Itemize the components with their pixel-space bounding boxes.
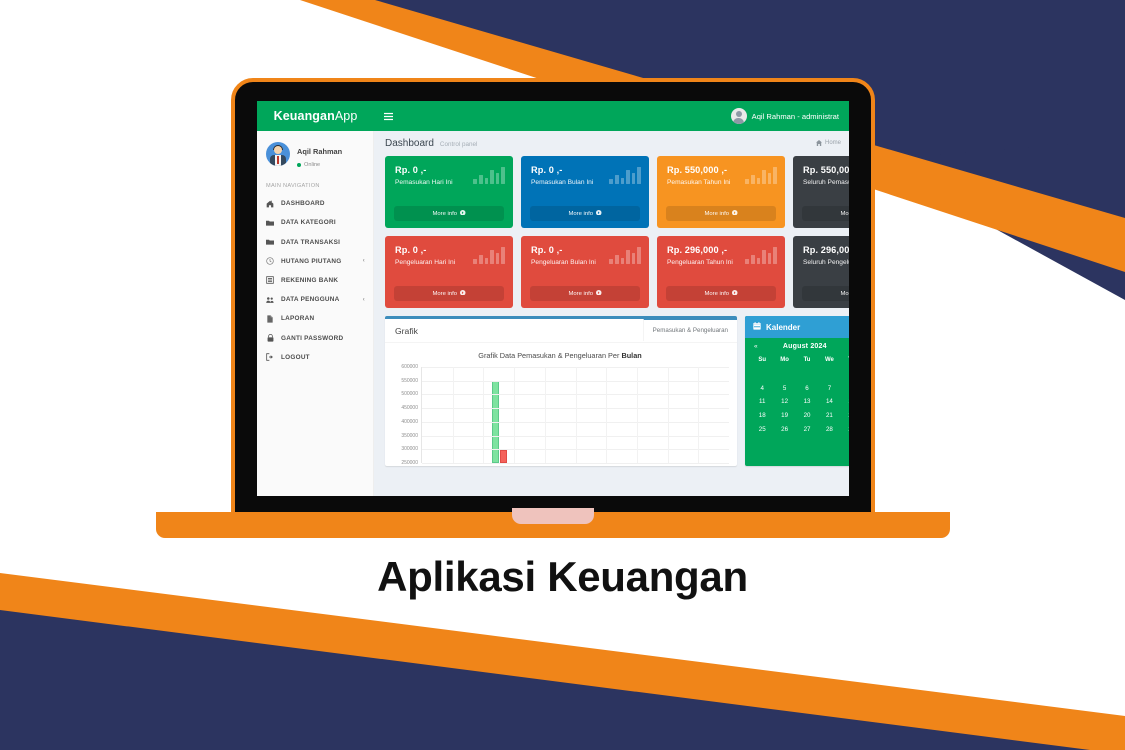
calendar-day[interactable]: 25 — [751, 423, 773, 437]
more-info-button[interactable]: More info — [802, 286, 849, 301]
sidebar-item-label: DASHBOARD — [281, 200, 325, 207]
calendar-day[interactable]: 7 — [818, 381, 840, 395]
avatar — [266, 142, 290, 166]
app-brand[interactable]: KeuanganApp — [257, 101, 374, 131]
sidebar-item-label: REKENING BANK — [281, 277, 338, 284]
sparkline-icon — [609, 244, 641, 264]
calendar-day[interactable] — [751, 367, 773, 381]
arrow-circle-right-icon — [460, 290, 466, 298]
calendar-grid: SuMoTuWeTh145678111213141518192021222526… — [745, 354, 849, 436]
bank-icon — [266, 276, 274, 284]
navbar-user-menu[interactable]: Aqil Rahman - administrat — [725, 108, 845, 124]
navbar-user-name: Aqil Rahman - administrat — [752, 112, 839, 121]
chart-title: Grafik Data Pemasukan & Pengeluaran Per … — [391, 351, 729, 360]
chart-y-tick: 300000 — [401, 446, 418, 452]
content-header: Dashboard Control panel Home — [374, 131, 849, 156]
chart-y-tick: 350000 — [401, 433, 418, 439]
calendar-day[interactable]: 4 — [751, 381, 773, 395]
calendar-month-label: August 2024 — [783, 343, 827, 350]
calendar-day[interactable]: 18 — [751, 409, 773, 423]
calendar-dow: Su — [751, 354, 773, 367]
sidebar-user-status-label: Online — [304, 162, 320, 170]
calendar-day[interactable]: 8 — [841, 381, 849, 395]
sparkline-icon — [609, 164, 641, 184]
sign-out-icon — [266, 353, 274, 361]
sidebar-item-logout[interactable]: LOGOUT — [257, 348, 373, 367]
arrow-circle-right-icon — [596, 210, 602, 218]
calendar-week-row: 2526272829 — [751, 423, 849, 437]
calendar-week-row: 1819202122 — [751, 409, 849, 423]
calendar-day[interactable]: 5 — [773, 381, 795, 395]
chart-y-tick: 600000 — [401, 364, 418, 370]
more-info-label: More info — [432, 291, 457, 297]
sparkline-icon — [745, 164, 777, 184]
chart-gridlines — [421, 367, 729, 463]
calendar-dow: We — [818, 354, 840, 367]
home-icon — [816, 140, 822, 146]
more-info-button[interactable]: More info — [530, 206, 640, 221]
sidebar-user-name: Aqil Rahman — [297, 147, 342, 156]
calendar-day[interactable]: 29 — [841, 423, 849, 437]
sidebar-item-dashboard[interactable]: DASHBOARD — [257, 194, 373, 213]
top-navbar: KeuanganApp Aqil Rahman - administrat — [257, 101, 849, 131]
sidebar-item-laporan[interactable]: LAPORAN — [257, 309, 373, 328]
sidebar-item-ganti-password[interactable]: GANTI PASSWORD — [257, 328, 373, 347]
info-box-value: Rp. 550,000 ,- — [803, 165, 849, 175]
sidebar-item-label: LOGOUT — [281, 354, 310, 361]
chart-y-tick: 250000 — [401, 460, 418, 466]
sidebar-item-label: DATA PENGGUNA — [281, 296, 340, 303]
chart-plot: 6000005500005000004500004000003500003000… — [391, 367, 729, 463]
calendar-day[interactable]: 6 — [796, 381, 818, 395]
page-subtitle: Control panel — [440, 141, 477, 148]
calendar-day[interactable]: 22 — [841, 409, 849, 423]
sidebar-item-data-kategori[interactable]: DATA KATEGORI — [257, 213, 373, 232]
info-box-row-bottom: Rp. 0 ,-Pengeluaran Hari IniMore infoRp.… — [374, 236, 849, 308]
info-box-row-top: Rp. 0 ,-Pemasukan Hari IniMore infoRp. 0… — [374, 156, 849, 228]
sidebar-section-header: MAIN NAVIGATION — [257, 177, 373, 194]
chart-bar-pengeluaran — [500, 450, 507, 463]
file-icon — [266, 315, 274, 323]
panels-row: Grafik Pemasukan & Pengeluaran Grafik Da… — [374, 316, 849, 466]
calendar-day[interactable] — [796, 367, 818, 381]
sidebar-item-label: DATA KATEGORI — [281, 219, 336, 226]
info-box-pengeluaran-bulan-ini[interactable]: Rp. 0 ,-Pengeluaran Bulan IniMore info — [521, 236, 649, 308]
sidebar-item-rekening-bank[interactable]: REKENING BANK — [257, 271, 373, 290]
folder-icon — [266, 238, 274, 246]
sidebar-user-status: Online — [297, 162, 342, 170]
more-info-label: More info — [704, 291, 729, 297]
more-info-button[interactable]: More info — [530, 286, 640, 301]
app-window: KeuanganApp Aqil Rahman - administrat — [257, 101, 849, 496]
sidebar: Aqil Rahman Online MAIN NAVIGATION DASHB… — [257, 131, 374, 496]
lock-icon — [266, 334, 274, 342]
brand-bold: Keuangan — [274, 109, 335, 123]
more-info-label: More info — [704, 211, 729, 217]
info-box-pengeluaran-tahun-ini[interactable]: Rp. 296,000 ,-Pengeluaran Tahun IniMore … — [657, 236, 785, 308]
brand-light: App — [335, 109, 358, 123]
calendar-day[interactable]: 14 — [818, 395, 840, 409]
avatar — [731, 108, 747, 124]
breadcrumb[interactable]: Home — [816, 140, 841, 146]
info-box-pengeluaran-hari-ini[interactable]: Rp. 0 ,-Pengeluaran Hari IniMore info — [385, 236, 513, 308]
page-title: Dashboard — [385, 138, 434, 149]
more-info-label: More info — [432, 211, 457, 217]
sidebar-item-hutang-piutang[interactable]: HUTANG PIUTANG‹ — [257, 252, 373, 271]
more-info-label: More info — [840, 291, 849, 297]
laptop-notch — [512, 508, 594, 524]
laptop-mockup: KeuanganApp Aqil Rahman - administrat — [231, 78, 875, 518]
chart-title-prefix: Grafik Data Pemasukan & Pengeluaran Per — [478, 351, 621, 360]
sparkline-icon — [473, 244, 505, 264]
sidebar-item-label: DATA TRANSAKSI — [281, 239, 340, 246]
more-info-button[interactable]: More info — [802, 206, 849, 221]
calendar-header: Kalender — [745, 316, 849, 338]
calendar-title: Kalender — [766, 323, 800, 332]
calendar-day[interactable] — [818, 367, 840, 381]
info-box-seluruh-pengeluaran[interactable]: Rp. 296,000 ,-Seluruh PengeluaranMore in… — [793, 236, 849, 308]
info-box-pemasukan-tahun-ini[interactable]: Rp. 550,000 ,-Pemasukan Tahun IniMore in… — [657, 156, 785, 228]
clock-icon — [266, 257, 274, 265]
chart-y-tick: 400000 — [401, 419, 418, 425]
chart-panel: Grafik Pemasukan & Pengeluaran Grafik Da… — [385, 316, 737, 466]
arrow-circle-right-icon — [596, 290, 602, 298]
sidebar-item-label: LAPORAN — [281, 315, 314, 322]
chart-y-tick: 500000 — [401, 391, 418, 397]
info-box-value: Rp. 296,000 ,- — [803, 245, 849, 255]
more-info-button[interactable]: More info — [394, 286, 504, 301]
calendar-day[interactable] — [773, 367, 795, 381]
calendar-day[interactable]: 13 — [796, 395, 818, 409]
users-icon — [266, 296, 274, 304]
chevron-left-icon: ‹ — [363, 297, 365, 303]
calendar-week-row: 45678 — [751, 381, 849, 395]
online-dot-icon — [297, 163, 301, 167]
calendar-panel: Kalender « August 2024 SuMoTuWeTh1456781… — [745, 316, 849, 466]
calendar-day[interactable]: 28 — [818, 423, 840, 437]
laptop-screen: KeuanganApp Aqil Rahman - administrat — [257, 101, 849, 496]
calendar-day[interactable]: 11 — [751, 395, 773, 409]
arrow-circle-right-icon — [732, 210, 738, 218]
sidebar-item-data-pengguna[interactable]: DATA PENGGUNA‹ — [257, 290, 373, 309]
more-info-label: More info — [840, 211, 849, 217]
calendar-day[interactable]: 26 — [773, 423, 795, 437]
more-info-button[interactable]: More info — [666, 286, 776, 301]
arrow-circle-right-icon — [460, 210, 466, 218]
chart-y-axis: 6000005500005000004500004000003500003000… — [391, 367, 421, 463]
sparkline-icon — [745, 244, 777, 264]
chart-title-bold: Bulan — [621, 351, 641, 360]
calendar-nav: « August 2024 — [745, 338, 849, 354]
info-box-pemasukan-bulan-ini[interactable]: Rp. 0 ,-Pemasukan Bulan IniMore info — [521, 156, 649, 228]
more-info-button[interactable]: More info — [394, 206, 504, 221]
calendar-day[interactable]: 27 — [796, 423, 818, 437]
main-content: Dashboard Control panel Home Rp. 0 ,-Pem… — [374, 131, 849, 496]
chart-y-tick: 450000 — [401, 405, 418, 411]
page-caption: Aplikasi Keuangan — [0, 553, 1125, 601]
breadcrumb-label: Home — [825, 140, 841, 146]
chart-panel-title: Grafik — [395, 326, 418, 336]
dashboard-icon — [266, 200, 274, 208]
calendar-dow: Th — [841, 354, 849, 367]
sparkline-icon — [473, 164, 505, 184]
calendar-week-row: 1 — [751, 367, 849, 381]
more-info-label: More info — [568, 291, 593, 297]
calendar-day[interactable]: 19 — [773, 409, 795, 423]
arrow-circle-right-icon — [732, 290, 738, 298]
chevron-left-icon: ‹ — [363, 258, 365, 264]
calendar-week-row: 1112131415 — [751, 395, 849, 409]
calendar-dow-row: SuMoTuWeTh — [751, 354, 849, 367]
more-info-button[interactable]: More info — [666, 206, 776, 221]
sidebar-item-label: GANTI PASSWORD — [281, 335, 343, 342]
hamburger-icon[interactable] — [374, 101, 402, 131]
info-box-pemasukan-hari-ini[interactable]: Rp. 0 ,-Pemasukan Hari IniMore info — [385, 156, 513, 228]
calendar-dow: Tu — [796, 354, 818, 367]
info-box-label: Seluruh Pemasukan — [803, 179, 849, 186]
calendar-day[interactable]: 1 — [841, 367, 849, 381]
navbar-right: Aqil Rahman - administrat — [725, 101, 849, 131]
chart-area: Grafik Data Pemasukan & Pengeluaran Per … — [385, 343, 737, 463]
calendar-dow: Mo — [773, 354, 795, 367]
calendar-day[interactable]: 15 — [841, 395, 849, 409]
chart-y-tick: 550000 — [401, 378, 418, 384]
tab-pemasukan-pengeluaran[interactable]: Pemasukan & Pengeluaran — [643, 318, 737, 341]
sidebar-item-data-transaksi[interactable]: DATA TRANSAKSI — [257, 233, 373, 252]
calendar-day[interactable]: 20 — [796, 409, 818, 423]
more-info-label: More info — [568, 211, 593, 217]
info-box-seluruh-pemasukan[interactable]: Rp. 550,000 ,-Seluruh PemasukanMore info — [793, 156, 849, 228]
sidebar-user-panel[interactable]: Aqil Rahman Online — [257, 131, 373, 177]
info-box-label: Seluruh Pengeluaran — [803, 259, 849, 266]
calendar-day[interactable]: 12 — [773, 395, 795, 409]
sidebar-item-label: HUTANG PIUTANG — [281, 258, 341, 265]
chart-panel-header: Grafik Pemasukan & Pengeluaran — [385, 319, 737, 343]
folder-icon — [266, 219, 274, 227]
calendar-day[interactable]: 21 — [818, 409, 840, 423]
calendar-icon — [753, 322, 761, 332]
calendar-prev-button[interactable]: « — [754, 343, 758, 350]
